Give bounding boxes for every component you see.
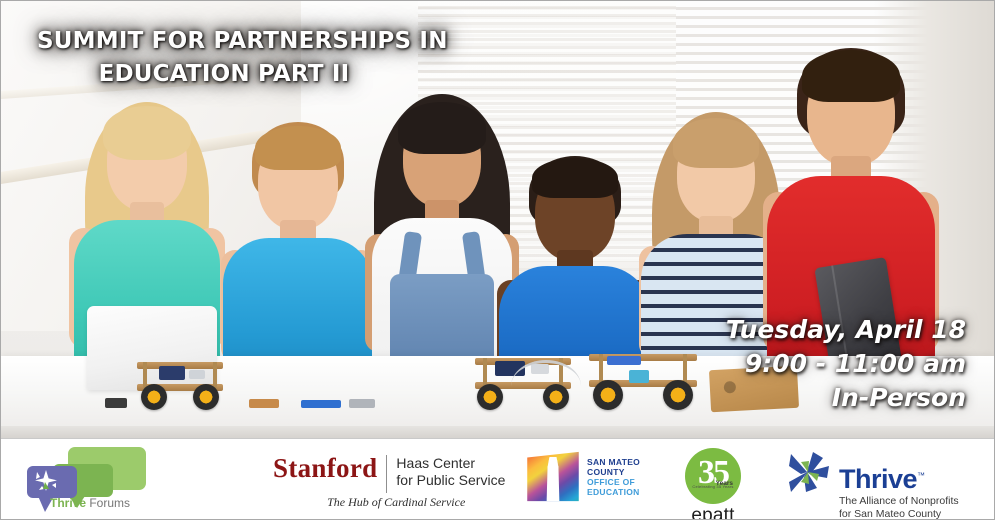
thrive-tagline-line-1: The Alliance of Nonprofits bbox=[839, 495, 959, 508]
hair-front bbox=[103, 106, 191, 160]
epatt-wordmark: epatt bbox=[677, 505, 749, 520]
logo-thrive-forums[interactable]: Thrive Forums bbox=[1, 439, 269, 520]
logo-epatt[interactable]: 35 Years Celebrating 35 Years epatt bbox=[665, 439, 773, 520]
thrive-trademark: ™ bbox=[917, 471, 925, 480]
event-date: Tuesday, April 18 bbox=[676, 313, 966, 347]
stanford-tagline: The Hub of Cardinal Service bbox=[273, 495, 505, 510]
logo-thrive-forums-text: Thrive Forums bbox=[50, 496, 130, 510]
student-boy-royal-blue bbox=[499, 100, 651, 378]
pinwheel-star-icon bbox=[779, 448, 837, 500]
title-line-2: EDUCATION PART II bbox=[37, 58, 457, 91]
logo-san-mateo-county-office-of-education[interactable]: SAN MATEO COUNTY OFFICE OF EDUCATION bbox=[525, 439, 665, 520]
thrive-wordmark: Thrive™ bbox=[839, 462, 959, 493]
hero-photo: SUMMIT FOR PARTNERSHIPS IN EDUCATION PAR… bbox=[1, 1, 994, 438]
logo-stanford-haas-center[interactable]: Stanford Haas Center for Public Service … bbox=[269, 439, 525, 520]
event-format: In-Person bbox=[676, 381, 966, 415]
sparkle-star-icon bbox=[31, 468, 61, 496]
san-mateo-line-2: COUNTY bbox=[587, 467, 640, 477]
lighthouse-silhouette bbox=[545, 457, 562, 505]
san-mateo-line-4: EDUCATION bbox=[587, 487, 640, 497]
desk-part-a bbox=[105, 398, 127, 408]
hair-front bbox=[673, 118, 759, 168]
table-edge bbox=[1, 426, 994, 438]
hair-front bbox=[398, 102, 486, 154]
stanford-unit-line-2: for Public Service bbox=[396, 472, 505, 489]
desk-part-c bbox=[301, 400, 341, 408]
hair-front bbox=[532, 158, 618, 198]
san-mateo-line-1: SAN MATEO bbox=[587, 457, 640, 467]
event-time: 9:00 - 11:00 am bbox=[676, 347, 966, 381]
title-line-1: SUMMIT FOR PARTNERSHIPS IN bbox=[37, 25, 457, 58]
thrive-tagline: The Alliance of Nonprofits for San Mateo… bbox=[839, 495, 959, 520]
san-mateo-line-3: OFFICE OF bbox=[587, 477, 640, 487]
hair-front bbox=[255, 126, 341, 170]
stanford-wordmark: Stanford bbox=[273, 453, 377, 483]
epatt-anniversary-badge-icon: 35 Years Celebrating 35 Years bbox=[685, 448, 741, 504]
hair-front bbox=[802, 50, 900, 102]
san-mateo-text: SAN MATEO COUNTY OFFICE OF EDUCATION bbox=[587, 457, 640, 497]
desk-part-b bbox=[249, 399, 279, 408]
sponsor-logo-bar: Thrive Forums Stanford Haas Center for P… bbox=[1, 438, 994, 519]
lighthouse-icon bbox=[525, 449, 581, 505]
divider bbox=[386, 455, 387, 493]
page-title: SUMMIT FOR PARTNERSHIPS IN EDUCATION PAR… bbox=[37, 25, 457, 91]
thrive-tagline-line-2: for San Mateo County bbox=[839, 508, 959, 520]
event-flyer: SUMMIT FOR PARTNERSHIPS IN EDUCATION PAR… bbox=[0, 0, 995, 520]
robotics-kit-left bbox=[137, 362, 223, 408]
logo-thrive-forums-bold: Thrive bbox=[50, 496, 86, 510]
desk-part-d bbox=[349, 399, 375, 408]
logo-thrive[interactable]: Thrive™ The Alliance of Nonprofits for S… bbox=[773, 439, 994, 520]
student-girl-overalls bbox=[369, 78, 515, 378]
stanford-unit-name: Haas Center for Public Service bbox=[396, 453, 505, 489]
thrive-name-text: Thrive bbox=[839, 464, 917, 494]
student-boy-blue-tee bbox=[223, 86, 373, 378]
stanford-unit-line-1: Haas Center bbox=[396, 455, 505, 472]
logo-thrive-forums-light: Forums bbox=[86, 496, 130, 510]
epatt-arc-text: Celebrating 35 Years bbox=[689, 484, 737, 498]
event-details: Tuesday, April 18 9:00 - 11:00 am In-Per… bbox=[676, 313, 966, 415]
